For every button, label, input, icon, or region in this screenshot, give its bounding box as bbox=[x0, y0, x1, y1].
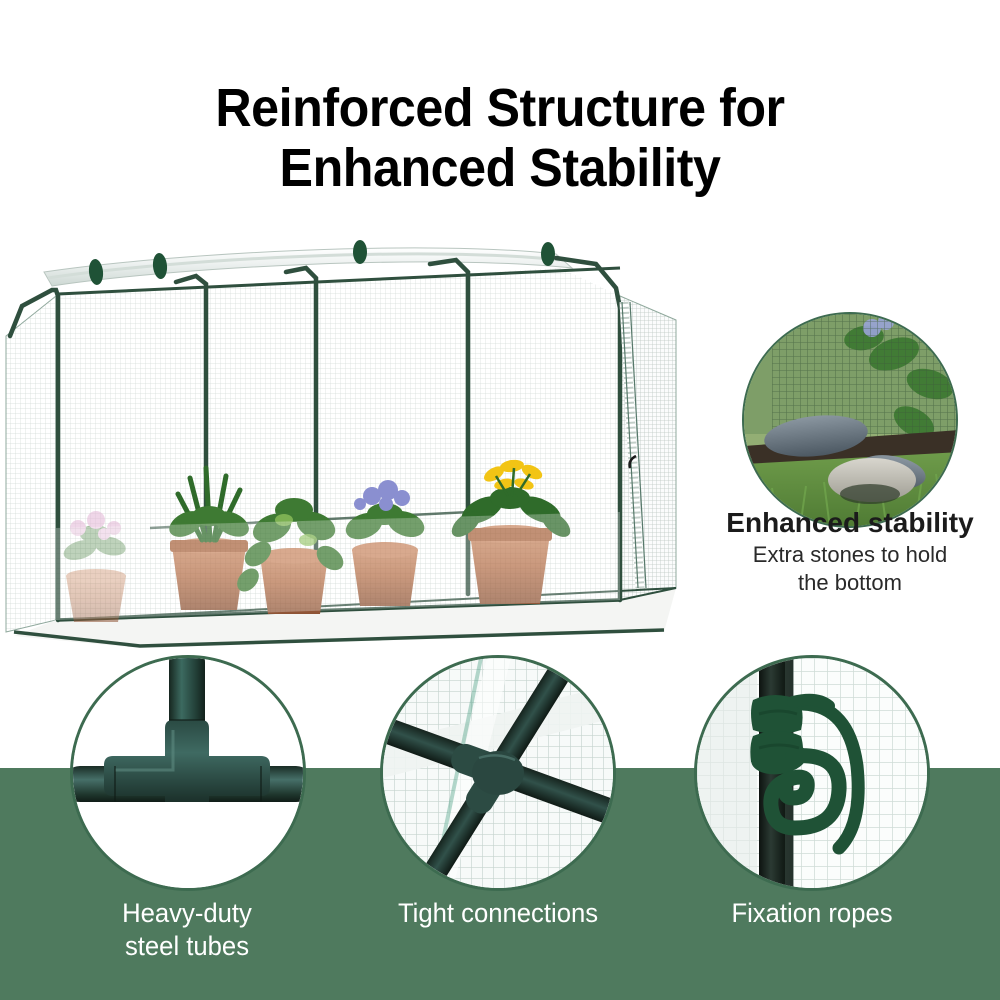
stability-subtitle: Extra stones to hold the bottom bbox=[700, 541, 1000, 597]
stability-sub-line-2: the bottom bbox=[700, 569, 1000, 597]
headline-line-2: Enhanced Stability bbox=[35, 138, 965, 198]
feature-image-fixation-ropes bbox=[694, 655, 930, 891]
caption-line-1: Tight connections bbox=[376, 897, 619, 930]
stability-sub-line-1: Extra stones to hold bbox=[700, 541, 1000, 569]
caption-fixation-ropes: Fixation ropes bbox=[698, 897, 926, 930]
feature-image-heavy-duty-steel-tubes bbox=[70, 655, 306, 891]
caption-line-2: steel tubes bbox=[73, 930, 301, 963]
product-hero-image bbox=[0, 228, 700, 648]
page-title: Reinforced Structure for Enhanced Stabil… bbox=[35, 78, 965, 198]
caption-tight-connections: Tight connections bbox=[376, 897, 619, 930]
caption-heavy-duty-steel-tubes: Heavy-duty steel tubes bbox=[73, 897, 301, 963]
feature-image-tight-connections bbox=[380, 655, 616, 891]
headline-line-1: Reinforced Structure for bbox=[35, 78, 965, 138]
left-end-panel bbox=[6, 296, 56, 632]
stability-title: Enhanced stability bbox=[700, 507, 1000, 539]
poster-canvas: Reinforced Structure for Enhanced Stabil… bbox=[0, 0, 1000, 1000]
caption-line-1: Heavy-duty bbox=[73, 897, 301, 930]
cover-tie bbox=[88, 258, 105, 285]
caption-line-1: Fixation ropes bbox=[698, 897, 926, 930]
enhanced-stability-image bbox=[742, 312, 958, 528]
